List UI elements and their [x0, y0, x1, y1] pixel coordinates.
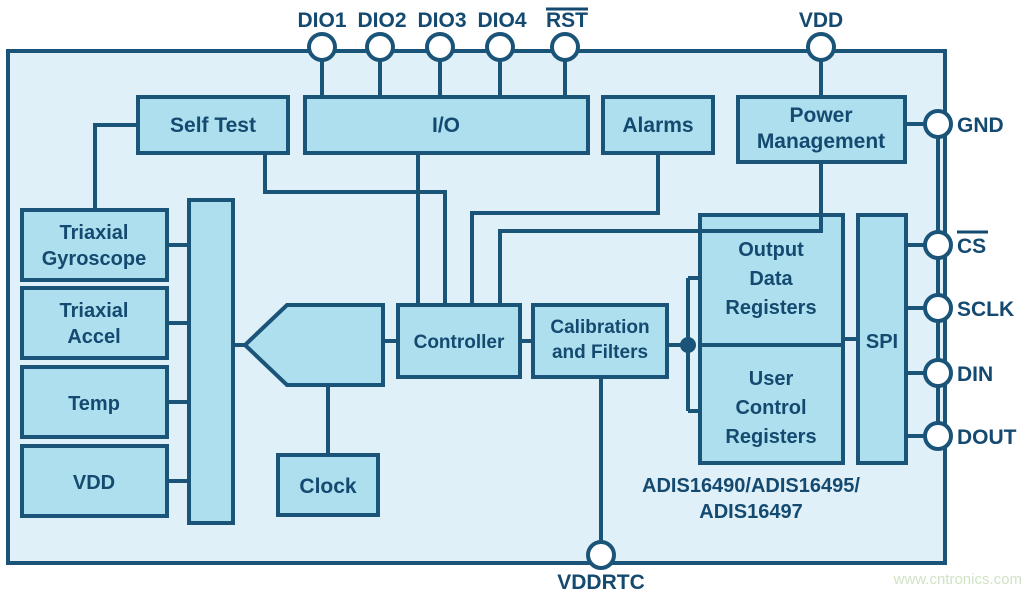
block-spi-label: SPI — [866, 331, 898, 353]
pin-circle-dio4[interactable] — [487, 34, 513, 60]
watermark: www.cntronics.com — [893, 571, 1022, 588]
block-io-label: I/O — [432, 114, 460, 137]
part-number-line-1: ADIS16490/ADIS16495/ — [642, 475, 860, 497]
block-vdd-sensor-label: VDD — [73, 472, 115, 494]
pin-circle-dio1[interactable] — [309, 34, 335, 60]
pin-circle-cs[interactable] — [925, 232, 951, 258]
block-temp-label: Temp — [68, 393, 120, 415]
junction-dot-calibration — [680, 337, 696, 353]
pin-circle-rst[interactable] — [552, 34, 578, 60]
pin-label-dio3: DIO3 — [417, 9, 466, 32]
pin-label-vddrtc: VDDRTC — [557, 571, 645, 594]
block-diagram-canvas: Self Test I/O Alarms Power Management Tr… — [0, 0, 1031, 598]
block-controller-label: Controller — [414, 332, 505, 353]
block-calibration-filters[interactable] — [533, 305, 667, 377]
block-user-control-registers-label-2: Control — [735, 397, 806, 419]
part-number-line-2: ADIS16497 — [699, 501, 802, 523]
block-self-test-label: Self Test — [170, 114, 256, 137]
pin-label-dio2: DIO2 — [357, 9, 406, 32]
pin-label-din: DIN — [957, 363, 993, 386]
block-user-control-registers-label-1: User — [749, 368, 794, 390]
pin-label-dio1: DIO1 — [297, 9, 346, 32]
pin-circle-sclk[interactable] — [925, 295, 951, 321]
pin-label-cs: CS — [957, 235, 986, 258]
pin-circle-dio2[interactable] — [367, 34, 393, 60]
block-calibration-label-2: and Filters — [552, 342, 648, 363]
block-mux[interactable] — [189, 200, 233, 523]
pin-label-rst: RST — [546, 9, 588, 32]
block-output-data-registers-label-1: Output — [738, 239, 804, 261]
block-power-management-label-1: Power — [789, 104, 852, 127]
pin-label-dout: DOUT — [957, 426, 1017, 449]
block-power-management-label-2: Management — [757, 130, 885, 153]
pin-circle-vddrtc[interactable] — [588, 542, 614, 568]
pin-label-gnd: GND — [957, 114, 1004, 137]
pin-label-sclk: SCLK — [957, 298, 1014, 321]
block-output-data-registers-label-3: Registers — [725, 297, 816, 319]
pin-circle-vdd[interactable] — [808, 34, 834, 60]
pin-label-dio4: DIO4 — [477, 9, 526, 32]
pin-label-vdd: VDD — [799, 9, 843, 32]
pin-circle-dout[interactable] — [925, 423, 951, 449]
pin-circle-gnd[interactable] — [925, 111, 951, 137]
block-output-data-registers-label-2: Data — [749, 268, 793, 290]
block-user-control-registers-label-3: Registers — [725, 426, 816, 448]
block-accel-label-2: Accel — [67, 326, 120, 348]
block-clock-label: Clock — [299, 475, 357, 498]
block-calibration-label-1: Calibration — [550, 317, 649, 338]
pin-circle-din[interactable] — [925, 360, 951, 386]
block-gyroscope-label-2: Gyroscope — [42, 248, 146, 270]
block-gyroscope-label-1: Triaxial — [60, 222, 129, 244]
block-accel-label-1: Triaxial — [60, 300, 129, 322]
pin-circle-dio3[interactable] — [427, 34, 453, 60]
block-alarms-label: Alarms — [622, 114, 693, 137]
